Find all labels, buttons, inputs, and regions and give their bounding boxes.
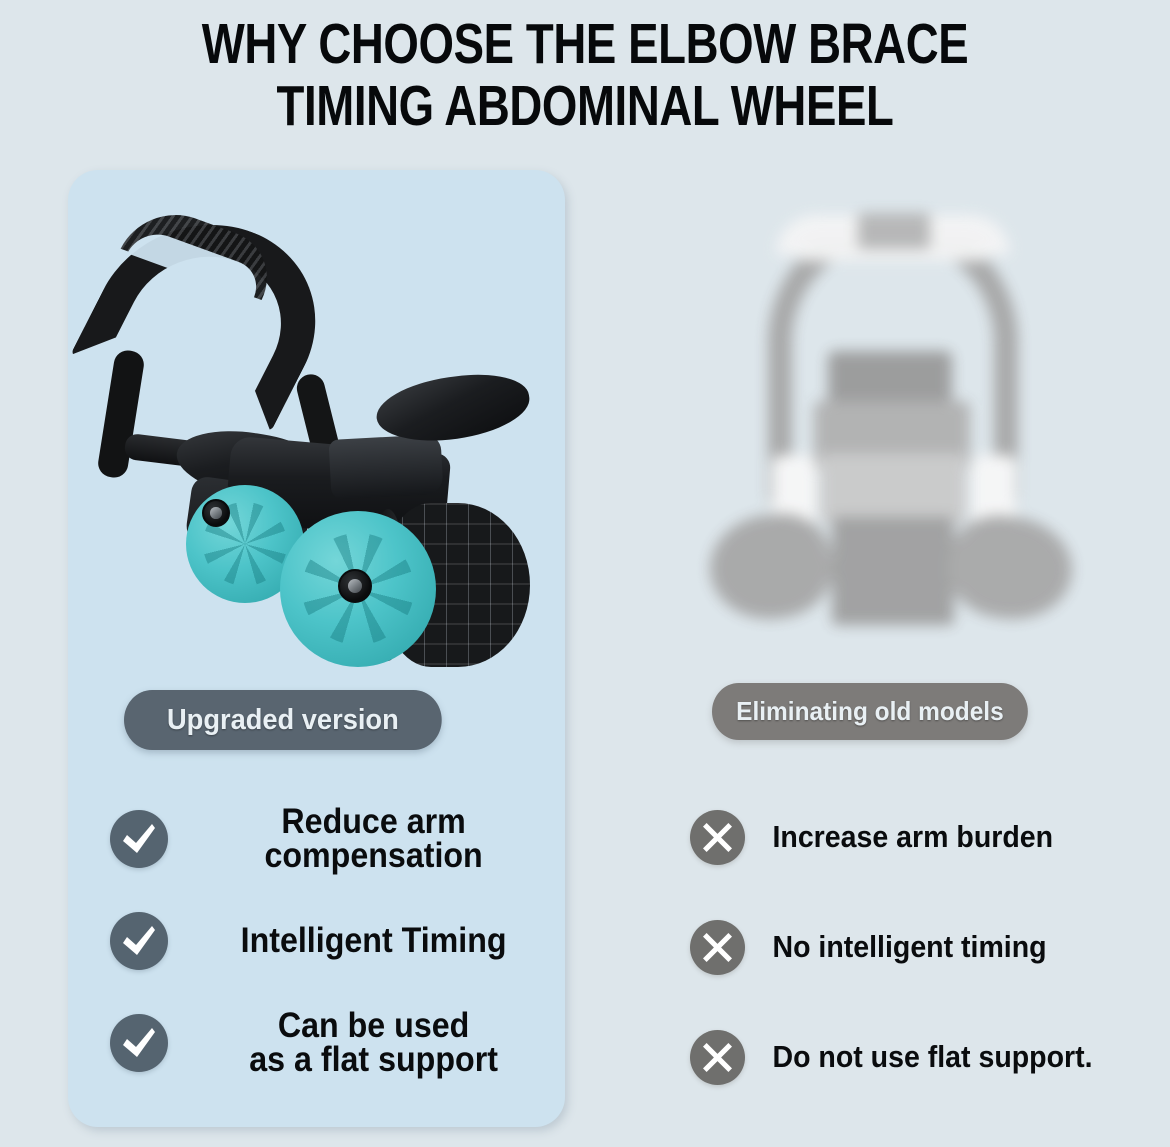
list-item-label: Increase arm burden bbox=[760, 822, 1096, 852]
infographic-page: WHY CHOOSE THE ELBOW BRACE TIMING ABDOMI… bbox=[0, 0, 1170, 1147]
list-item-label: Do not use flat support. bbox=[760, 1042, 1096, 1072]
list-item: Intelligent Timing bbox=[110, 897, 570, 985]
page-title-line-2: TIMING ABDOMINAL WHEEL bbox=[117, 78, 1053, 135]
page-title-line-1: WHY CHOOSE THE ELBOW BRACE bbox=[117, 16, 1053, 73]
close-icon bbox=[690, 920, 745, 975]
check-icon bbox=[110, 912, 168, 970]
old-body-mid bbox=[820, 453, 966, 523]
list-item-label-line-2: as a flat support bbox=[193, 1043, 554, 1077]
upgraded-version-badge: Upgraded version bbox=[124, 690, 442, 750]
list-item-label-line-1: Do not use flat support. bbox=[772, 1042, 1095, 1072]
list-item-label: Reduce arm compensation bbox=[184, 805, 554, 874]
list-item: Reduce arm compensation bbox=[110, 795, 570, 883]
old-body-lower bbox=[832, 517, 954, 625]
check-icon bbox=[110, 810, 168, 868]
wheel-front bbox=[280, 493, 530, 665]
upgraded-feature-list: Reduce arm compensation Intelligent Timi… bbox=[110, 795, 570, 1101]
roller-body-mid bbox=[329, 434, 444, 500]
old-handle-top-tab bbox=[858, 213, 930, 249]
list-item-label-line-1: Increase arm burden bbox=[772, 822, 1095, 852]
list-item-label-line-2: compensation bbox=[193, 839, 554, 873]
list-item-label-line-1: No intelligent timing bbox=[772, 932, 1095, 962]
close-icon bbox=[690, 810, 745, 865]
list-item: Do not use flat support. bbox=[690, 1020, 1110, 1094]
new-product-image bbox=[80, 205, 560, 660]
old-product-image bbox=[680, 205, 1100, 645]
old-model-feature-list: Increase arm burden No intelligent timin… bbox=[690, 800, 1110, 1130]
list-item-label-line-1: Intelligent Timing bbox=[193, 924, 554, 958]
list-item: No intelligent timing bbox=[690, 910, 1110, 984]
old-elbow-pad-left bbox=[703, 507, 838, 627]
wheel-axle-bolt-front bbox=[338, 569, 372, 603]
list-item-label-line-1: Can be used bbox=[193, 1009, 554, 1043]
list-item: Increase arm burden bbox=[690, 800, 1110, 874]
page-title: WHY CHOOSE THE ELBOW BRACE TIMING ABDOMI… bbox=[117, 16, 1053, 135]
old-elbow-pad-right bbox=[942, 509, 1079, 627]
wheel-axle-bolt-rear bbox=[202, 499, 230, 527]
check-icon bbox=[110, 1014, 168, 1072]
close-icon bbox=[690, 1030, 745, 1085]
eliminating-old-models-badge: Eliminating old models bbox=[712, 683, 1028, 740]
list-item-label: Can be used as a flat support bbox=[184, 1009, 554, 1078]
list-item-label: No intelligent timing bbox=[760, 932, 1096, 962]
list-item-label: Intelligent Timing bbox=[184, 924, 554, 958]
list-item-label-line-1: Reduce arm bbox=[193, 805, 554, 839]
ab-roller-wheel-icon bbox=[80, 205, 560, 660]
list-item: Can be used as a flat support bbox=[110, 999, 570, 1087]
